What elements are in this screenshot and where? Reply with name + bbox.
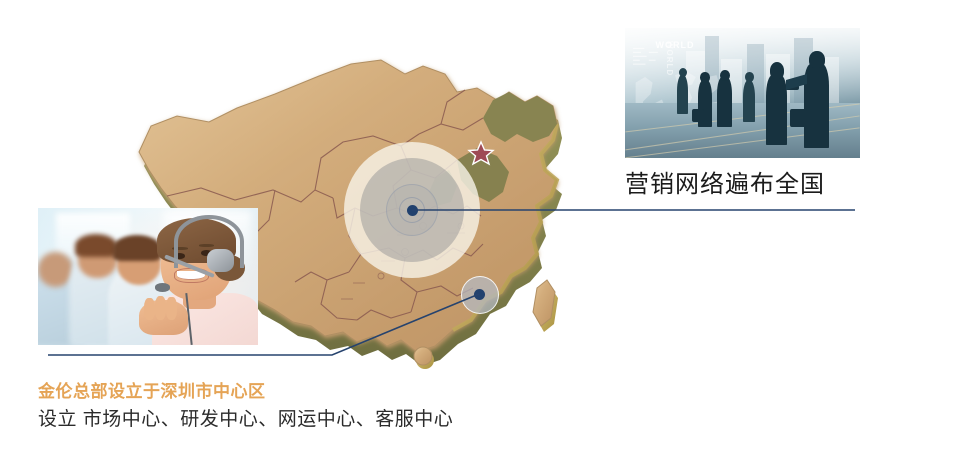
right-caption-text: 营销网络遍布全国 xyxy=(625,164,825,199)
silhouette-person-c-head xyxy=(745,72,753,82)
agent-finger-3 xyxy=(166,297,177,320)
headset-earpiece-icon xyxy=(207,249,233,272)
map-northeast-highland xyxy=(483,92,557,142)
headset-microphone-icon xyxy=(155,283,170,291)
silhouette-person-c xyxy=(743,80,756,122)
data-lines-overlay xyxy=(630,45,668,79)
agent-finger-1 xyxy=(144,298,155,320)
map-taiwan xyxy=(533,280,558,332)
left-caption-subtitle: 设立 市场中心、研发中心、网运中心、客服中心 xyxy=(38,404,453,431)
left-caption-title: 金伦总部设立于深圳市中心区 xyxy=(38,377,266,402)
silhouette-person-man xyxy=(804,64,830,147)
silhouette-briefcase-a xyxy=(692,109,704,122)
silhouette-person-woman-head xyxy=(770,62,784,79)
silhouette-person-man-head xyxy=(809,51,824,68)
silhouette-person-a-head xyxy=(700,72,709,82)
background-person-1-hair xyxy=(113,235,161,261)
business-network-photo: WORLD WORLD xyxy=(625,28,860,158)
shenzhen-hq-dot-icon[interactable] xyxy=(474,289,485,300)
infographic-stage: WORLD WORLD xyxy=(0,0,960,460)
background-person-2-hair xyxy=(75,234,117,257)
silhouette-person-b-head xyxy=(720,70,730,81)
silhouette-person-b xyxy=(717,77,732,126)
agent-finger-2 xyxy=(155,296,166,321)
silhouette-person-far xyxy=(677,75,689,114)
silhouette-briefcase-man xyxy=(790,109,808,127)
call-center-photo xyxy=(38,208,258,345)
